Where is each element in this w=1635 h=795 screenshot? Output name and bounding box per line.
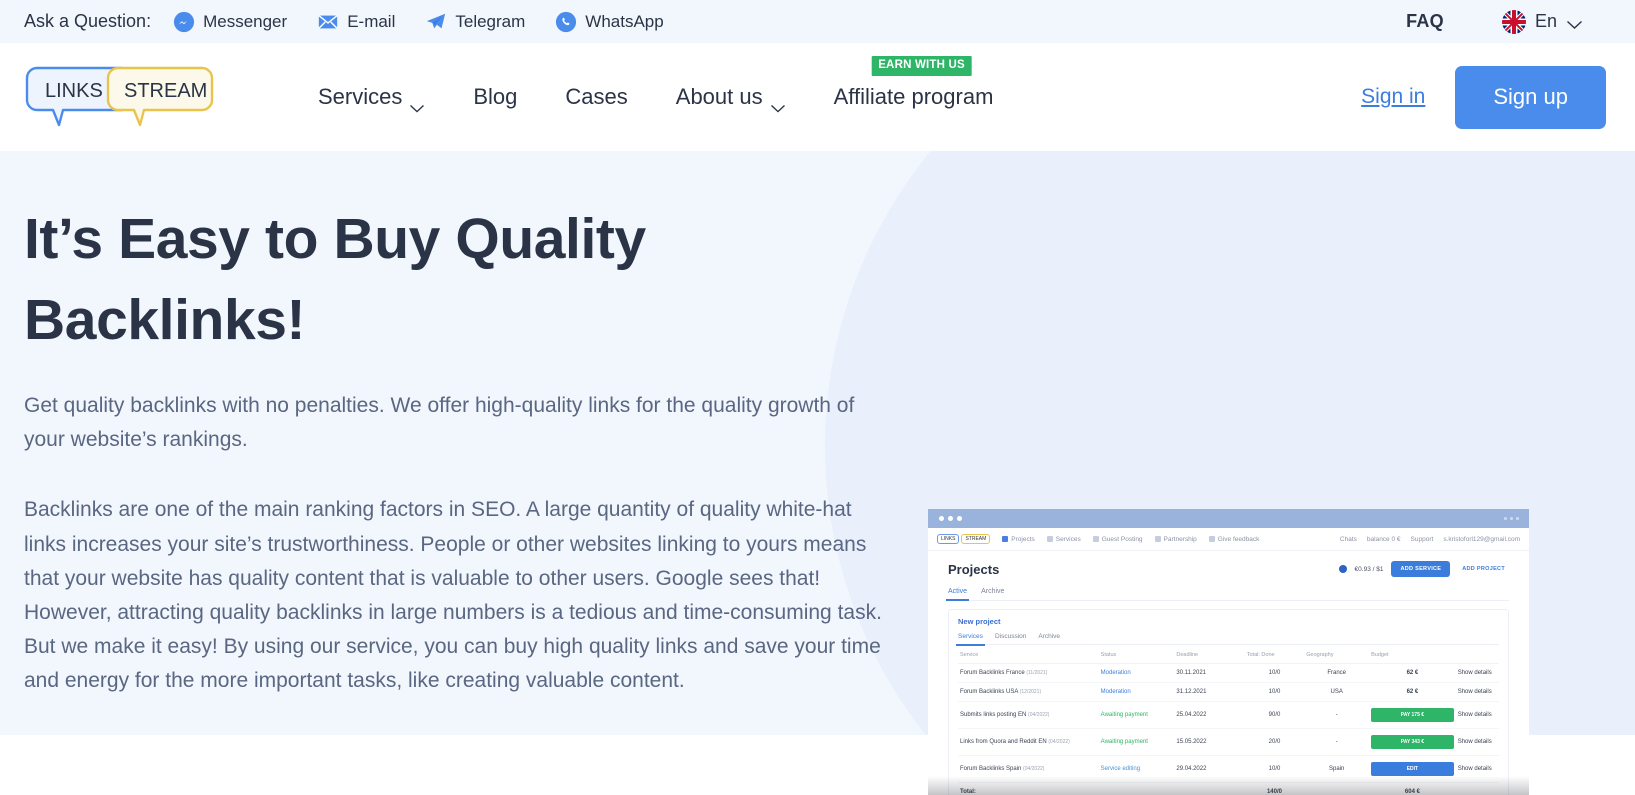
cell-details: Show details (1456, 756, 1499, 783)
poster-balance: €0.93 / $1 (1355, 566, 1384, 573)
page-title: It’s Easy to Buy Quality Backlinks! (24, 199, 904, 361)
nav-label-services: Services (318, 84, 402, 110)
nav-item-blog[interactable]: Blog (449, 84, 541, 110)
poster-browser-titlebar (928, 509, 1529, 528)
poster-logo: LINKS STREAM (937, 534, 990, 544)
poster-services-table: Service Status Deadline Total: Done Geog… (958, 647, 1499, 795)
poster-tab-active: Active (948, 588, 967, 595)
window-dots-icon (939, 516, 962, 521)
cell-geo: - (1304, 702, 1369, 729)
poster-logo-left: LINKS (937, 534, 959, 544)
cell-details: Show details (1456, 683, 1499, 702)
cell-deadline: 15.05.2022 (1176, 739, 1206, 745)
poster-nav-label-support: Support (1411, 536, 1434, 543)
contact-label-telegram: Telegram (455, 12, 525, 32)
cell-deadline: 25.04.2022 (1176, 712, 1206, 718)
language-label: En (1535, 11, 1557, 32)
cell-status: Awaiting payment (1101, 739, 1148, 745)
uk-flag-icon (1502, 10, 1526, 34)
contact-label-messenger: Messenger (203, 12, 287, 32)
poster-project-tab-discussion: Discussion (995, 633, 1026, 640)
cell-service: Links from Quora and Reddit EN (960, 739, 1047, 745)
chevron-down-icon (409, 94, 425, 104)
cell-geo: USA (1304, 683, 1369, 702)
site-header: LINKS STREAM Services Blog Cases About u… (0, 43, 1635, 151)
poster-add-service-button: ADD SERVICE (1391, 561, 1450, 577)
site-logo[interactable]: LINKS STREAM (24, 66, 216, 128)
nav-label-affiliate-program: Affiliate program (834, 84, 994, 110)
cell-deadline: 29.04.2022 (1176, 766, 1206, 772)
contact-link-whatsapp[interactable]: WhatsApp (555, 11, 663, 33)
nav-item-services[interactable]: Services (294, 84, 449, 110)
col-service: Service (958, 647, 1099, 664)
table-row: Forum Backlinks USA (12/2021) Moderation… (958, 683, 1499, 702)
poster-project-card: New project Services Discussion Archive … (948, 609, 1509, 795)
nav-item-about-us[interactable]: About us (652, 84, 810, 110)
messenger-icon (173, 11, 195, 33)
email-icon (317, 11, 339, 33)
header-auth-group: Sign in Sign up (1361, 66, 1611, 129)
hero-paragraph-2: Backlinks are one of the main ranking fa… (24, 493, 892, 698)
total-budget: 604 € (1369, 783, 1456, 795)
table-row: Links from Quora and Reddit EN (04/2022)… (958, 729, 1499, 756)
poster-nav-label-chats: Chats (1340, 536, 1357, 543)
poster-nav-partnership: Partnership (1155, 536, 1197, 543)
contact-link-email[interactable]: E-mail (317, 11, 395, 33)
cell-geo: Spain (1304, 756, 1369, 783)
poster-page-body: Projects €0.93 / $1 ADD SERVICE ADD PROJ… (928, 551, 1529, 795)
hero-paragraph-1: Get quality backlinks with no penalties.… (24, 389, 892, 457)
top-utility-bar: Ask a Question: Messenger E-mail Telegra… (0, 0, 1635, 43)
folder-icon (1002, 536, 1008, 542)
cell-total: 90/0 (1245, 702, 1305, 729)
telegram-icon (425, 11, 447, 33)
hero-text-column: It’s Easy to Buy Quality Backlinks! Get … (24, 151, 904, 699)
cell-details: Show details (1456, 729, 1499, 756)
poster-nav-label-projects: Projects (1011, 536, 1034, 543)
poster-page-header: Projects €0.93 / $1 ADD SERVICE ADD PROJ… (948, 561, 1509, 577)
feedback-icon (1209, 536, 1215, 542)
poster-nav-label-balance: balance 0 € (1367, 536, 1401, 543)
poster-project-tabs: Services Discussion Archive (958, 633, 1499, 645)
table-row: Submits links posting EN (04/2022) Await… (958, 702, 1499, 729)
svg-text:STREAM: STREAM (124, 80, 207, 102)
cell-service: Forum Backlinks Spain (960, 766, 1021, 772)
nav-item-affiliate-program[interactable]: EARN WITH US Affiliate program (810, 84, 1018, 110)
poster-tabs: Active Archive (948, 588, 1509, 601)
table-header-row: Service Status Deadline Total: Done Geog… (958, 647, 1499, 664)
cell-deadline: 31.12.2021 (1176, 689, 1206, 695)
main-navigation: Services Blog Cases About us EARN WITH U… (294, 84, 1017, 110)
video-player[interactable]: LINKS STREAM Projects Services Guest Pos… (928, 509, 1529, 795)
sign-in-link[interactable]: Sign in (1361, 85, 1425, 109)
top-bar-right-group: FAQ En (1406, 10, 1611, 34)
chevron-down-icon (770, 94, 786, 104)
post-icon (1093, 536, 1099, 542)
earn-with-us-badge: EARN WITH US (871, 56, 972, 76)
poster-app-navbar: LINKS STREAM Projects Services Guest Pos… (928, 528, 1529, 551)
cell-service-date: (12/2021) (1020, 689, 1041, 695)
table-row: Forum Backlinks Spain (04/2022) Service … (958, 756, 1499, 783)
col-actions (1456, 647, 1499, 664)
poster-nav-label-give-feedback: Give feedback (1218, 536, 1260, 543)
cell-budget: 62 € (1369, 664, 1456, 683)
total-label: Total: (958, 783, 1099, 795)
nav-label-about-us: About us (676, 84, 763, 110)
contact-link-telegram[interactable]: Telegram (425, 11, 525, 33)
coin-icon (1339, 565, 1347, 573)
cell-status: Service editing (1101, 766, 1140, 772)
faq-link[interactable]: FAQ (1406, 11, 1444, 32)
language-selector[interactable]: En (1502, 10, 1583, 34)
cell-total: 10/0 (1245, 683, 1305, 702)
nav-label-blog: Blog (473, 84, 517, 110)
poster-project-tab-services: Services (958, 633, 983, 640)
total-count: 140/0 (1245, 783, 1305, 795)
cell-service-date: (04/2022) (1023, 766, 1044, 772)
col-geography: Geography (1304, 647, 1369, 664)
cell-service: Forum Backlinks USA (960, 689, 1018, 695)
poster-nav-label-account: s.kristoforl129@gmail.com (1443, 536, 1520, 543)
cell-status: Moderation (1101, 670, 1131, 676)
chevron-down-icon (1566, 17, 1583, 27)
poster-nav-label-guest-posting: Guest Posting (1102, 536, 1143, 543)
col-deadline: Deadline (1174, 647, 1244, 664)
poster-nav-right: Chats balance 0 € Support s.kristoforl12… (1340, 536, 1520, 543)
whatsapp-icon (555, 11, 577, 33)
poster-logo-right: STREAM (961, 534, 990, 544)
hero-section: It’s Easy to Buy Quality Backlinks! Get … (0, 151, 1635, 795)
cell-total: 20/0 (1245, 729, 1305, 756)
cell-service: Forum Backlinks France (960, 670, 1025, 676)
cell-details: Show details (1456, 702, 1499, 729)
poster-tab-archive: Archive (981, 588, 1004, 595)
poster-nav-services: Services (1047, 536, 1081, 543)
poster-nav-give-feedback: Give feedback (1209, 536, 1260, 543)
poster-add-project-button: ADD PROJECT (1458, 561, 1509, 577)
cell-budget: 62 € (1369, 683, 1456, 702)
cell-details: Show details (1456, 664, 1499, 683)
poster-nav-guest-posting: Guest Posting (1093, 536, 1143, 543)
cell-deadline: 30.11.2021 (1176, 670, 1206, 676)
poster-nav-projects: Projects (1002, 536, 1034, 543)
poster-nav-label-services: Services (1056, 536, 1081, 543)
table-total-row: Total: 140/0 604 € (958, 783, 1499, 795)
briefcase-icon (1047, 536, 1053, 542)
nav-label-cases: Cases (565, 84, 627, 110)
contact-link-messenger[interactable]: Messenger (173, 11, 287, 33)
ask-a-question-label: Ask a Question: (24, 11, 151, 32)
cell-total: 10/0 (1245, 756, 1305, 783)
poster-project-tab-archive: Archive (1038, 633, 1060, 640)
poster-page-title: Projects (948, 562, 999, 577)
cell-status: Awaiting payment (1101, 712, 1148, 718)
cell-service: Submits links posting EN (960, 712, 1026, 718)
poster-nav-label-partnership: Partnership (1164, 536, 1197, 543)
cell-service-date: (04/2022) (1028, 712, 1049, 718)
cell-total: 10/0 (1245, 664, 1305, 683)
table-row: Forum Backlinks France (11/2021) Moderat… (958, 664, 1499, 683)
handshake-icon (1155, 536, 1161, 542)
cell-service-date: (04/2022) (1048, 739, 1069, 745)
window-dots-right-icon (1504, 517, 1519, 520)
sign-up-button[interactable]: Sign up (1455, 66, 1606, 129)
col-budget: Budget (1369, 647, 1456, 664)
col-total-done: Total: Done (1245, 647, 1305, 664)
svg-text:LINKS: LINKS (45, 80, 103, 102)
poster-project-name: New project (958, 617, 1499, 626)
cell-budget-pill: PAY 175 € (1371, 708, 1454, 722)
cell-status: Moderation (1101, 689, 1131, 695)
contact-label-email: E-mail (347, 12, 395, 32)
col-status: Status (1099, 647, 1175, 664)
contact-label-whatsapp: WhatsApp (585, 12, 663, 32)
cell-service-date: (11/2021) (1026, 670, 1047, 676)
cell-geo: France (1304, 664, 1369, 683)
cell-budget-pill: PAY 343 € (1371, 735, 1454, 749)
cell-budget-pill: EDIT (1371, 762, 1454, 776)
cell-geo: - (1304, 729, 1369, 756)
nav-item-cases[interactable]: Cases (541, 84, 651, 110)
